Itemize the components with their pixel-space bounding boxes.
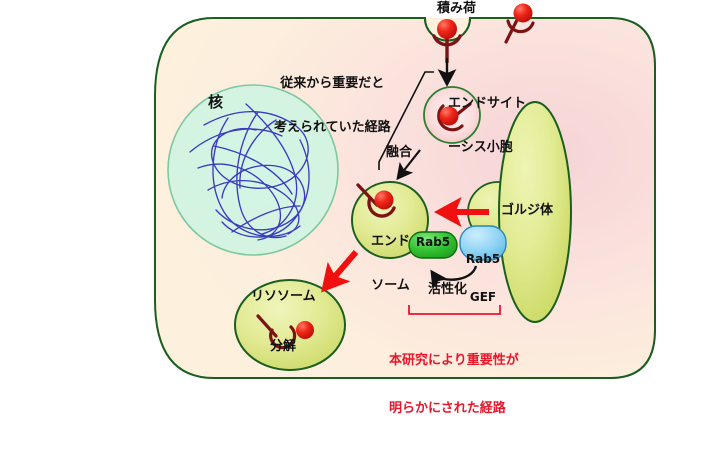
endocytic-vesicle-label-line2: ーシス小胞 — [448, 141, 526, 156]
endosome-label: エンド ソーム — [362, 206, 419, 322]
endocytic-vesicle-label-line1: エンドサイト — [448, 97, 526, 112]
golgi-label: ゴルジ体 — [501, 204, 553, 219]
legacy-pathway-label-line1: 従来から重要だと — [274, 77, 391, 92]
nucleus-label: 核 — [208, 94, 223, 111]
new-pathway-label-line1: 本研究により重要性が — [389, 353, 519, 369]
rab5-label: Rab5 — [409, 236, 457, 249]
lysosome-label: リソソーム — [251, 290, 316, 305]
cargo-label: 積み荷 — [437, 2, 476, 17]
endosome-label-line2: ソーム — [362, 279, 419, 294]
fusion-label: 融合 — [386, 146, 412, 161]
new-pathway-label: 本研究により重要性が 明らかにされた経路 — [389, 320, 519, 450]
rab5-gef-label-line1: Rab5 — [460, 253, 506, 266]
legacy-pathway-label: 従来から重要だと 考えられていた経路 — [274, 48, 391, 164]
diagram-canvas: 積み荷 エンドサイト ーシス小胞 従来から重要だと 考えられていた経路 融合 エ… — [0, 0, 715, 400]
degradation-label: 分解 — [270, 340, 296, 355]
activation-label: 活性化 — [428, 283, 467, 298]
legacy-pathway-label-line2: 考えられていた経路 — [274, 121, 391, 136]
new-pathway-label-line2: 明らかにされた経路 — [389, 401, 519, 417]
endocytic-vesicle-label: エンドサイト ーシス小胞 — [448, 68, 526, 184]
rab5-gef-label: Rab5 GEF — [460, 228, 506, 329]
